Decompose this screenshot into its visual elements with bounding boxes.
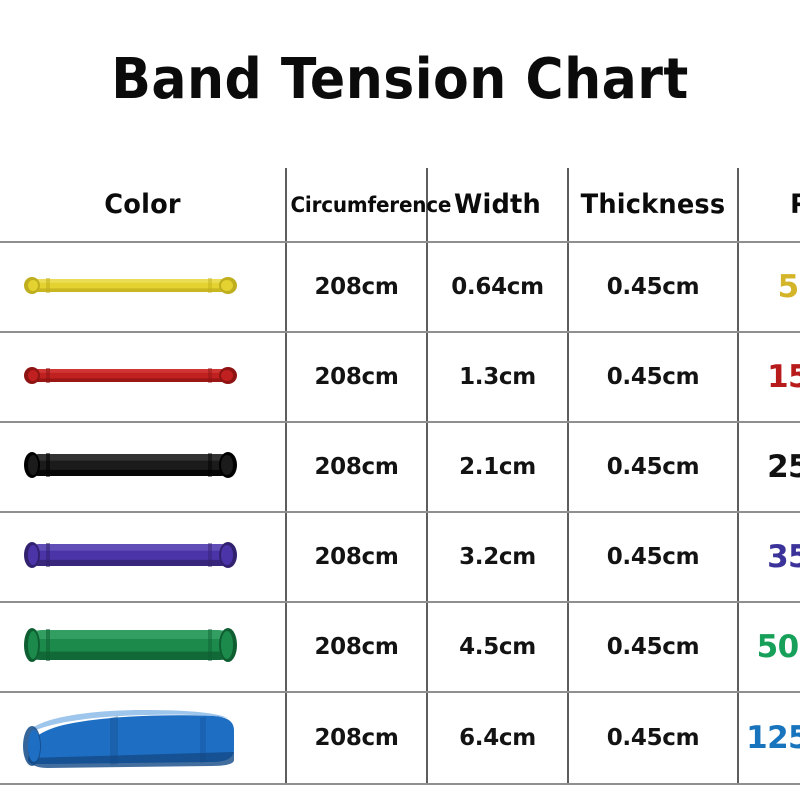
cell-color-black	[0, 422, 286, 512]
band-tension-table: Color Circumference Width Thickness Poun…	[0, 168, 800, 785]
band-swatch-svg	[14, 261, 246, 313]
width-value: 3.2cm	[459, 544, 536, 570]
table-body: 208cm 0.64cm 0.45cm 5-15LB 208cm 1.3	[0, 242, 800, 784]
cell-pound: 35-85LB	[738, 512, 800, 602]
pound-value: 125-170LB	[746, 720, 800, 756]
page-title: Band Tension Chart	[28, 47, 772, 112]
cell-pound: 50-125LB	[738, 602, 800, 692]
header-row: Color Circumference Width Thickness Poun…	[0, 168, 800, 242]
column-header-pound: Pound	[743, 168, 800, 242]
cell-width: 0.64cm	[427, 242, 568, 332]
circumference-value: 208cm	[314, 725, 398, 751]
cell-color-yellow	[0, 242, 286, 332]
cell-circumference: 208cm	[286, 422, 427, 512]
band-swatch-red	[0, 351, 285, 403]
column-header-width: Width	[431, 168, 565, 242]
band-swatch-svg	[14, 621, 246, 673]
cell-thickness: 0.45cm	[568, 602, 738, 692]
pound-value: 15-35LB	[767, 359, 800, 395]
circumference-value: 208cm	[314, 364, 398, 390]
circumference-value: 208cm	[314, 274, 398, 300]
cell-thickness: 0.45cm	[568, 692, 738, 784]
thickness-value: 0.45cm	[607, 544, 700, 570]
cell-circumference: 208cm	[286, 602, 427, 692]
band-swatch-svg	[14, 531, 246, 583]
thickness-value: 0.45cm	[607, 274, 700, 300]
width-value: 1.3cm	[459, 364, 536, 390]
pound-value: 5-15LB	[778, 269, 800, 305]
band-swatch-purple	[0, 531, 285, 583]
cell-thickness: 0.45cm	[568, 422, 738, 512]
band-swatch-green	[0, 621, 285, 673]
width-value: 6.4cm	[459, 725, 536, 751]
width-value: 0.64cm	[451, 274, 544, 300]
band-swatch-svg	[14, 351, 246, 403]
cell-pound: 5-15LB	[738, 242, 800, 332]
band-swatch-svg	[14, 441, 246, 493]
pound-value: 50-125LB	[757, 629, 800, 665]
cell-pound: 125-170LB	[738, 692, 800, 784]
resistance-band-icon	[14, 351, 246, 403]
cell-width: 2.1cm	[427, 422, 568, 512]
band-tension-chart-page: Band Tension Chart Color Circumference W…	[0, 0, 800, 800]
cell-circumference: 208cm	[286, 332, 427, 422]
table-row: 208cm 4.5cm 0.45cm 50-125LB	[0, 602, 800, 692]
cell-circumference: 208cm	[286, 242, 427, 332]
column-header-color: Color	[7, 168, 279, 242]
resistance-band-icon	[14, 441, 246, 493]
column-header-thickness: Thickness	[572, 168, 734, 242]
thickness-value: 0.45cm	[607, 634, 700, 660]
cell-thickness: 0.45cm	[568, 242, 738, 332]
table-row: 208cm 6.4cm 0.45cm 125-170LB	[0, 692, 800, 784]
thickness-value: 0.45cm	[607, 454, 700, 480]
column-header-circumference: Circumference	[290, 168, 424, 242]
band-swatch-black	[0, 441, 285, 493]
thickness-value: 0.45cm	[607, 364, 700, 390]
band-swatch-blue	[0, 702, 285, 774]
table-header: Color Circumference Width Thickness Poun…	[0, 168, 800, 242]
resistance-band-icon	[14, 702, 246, 774]
cell-width: 6.4cm	[427, 692, 568, 784]
cell-pound: 15-35LB	[738, 332, 800, 422]
table-row: 208cm 3.2cm 0.45cm 35-85LB	[0, 512, 800, 602]
width-value: 2.1cm	[459, 454, 536, 480]
cell-color-purple	[0, 512, 286, 602]
table-row: 208cm 2.1cm 0.45cm 25-65LB	[0, 422, 800, 512]
circumference-value: 208cm	[314, 544, 398, 570]
cell-circumference: 208cm	[286, 692, 427, 784]
resistance-band-icon	[14, 621, 246, 673]
cell-color-blue	[0, 692, 286, 784]
thickness-value: 0.45cm	[607, 725, 700, 751]
resistance-band-icon	[14, 531, 246, 583]
cell-width: 3.2cm	[427, 512, 568, 602]
cell-color-green	[0, 602, 286, 692]
cell-width: 4.5cm	[427, 602, 568, 692]
cell-thickness: 0.45cm	[568, 512, 738, 602]
cell-thickness: 0.45cm	[568, 332, 738, 422]
width-value: 4.5cm	[459, 634, 536, 660]
table-row: 208cm 0.64cm 0.45cm 5-15LB	[0, 242, 800, 332]
cell-width: 1.3cm	[427, 332, 568, 422]
band-swatch-svg	[14, 702, 246, 774]
pound-value: 35-85LB	[767, 539, 800, 575]
table-row: 208cm 1.3cm 0.45cm 15-35LB	[0, 332, 800, 422]
circumference-value: 208cm	[314, 454, 398, 480]
band-swatch-yellow	[0, 261, 285, 313]
circumference-value: 208cm	[314, 634, 398, 660]
cell-pound: 25-65LB	[738, 422, 800, 512]
pound-value: 25-65LB	[767, 449, 800, 485]
resistance-band-icon	[14, 261, 246, 313]
cell-circumference: 208cm	[286, 512, 427, 602]
cell-color-red	[0, 332, 286, 422]
